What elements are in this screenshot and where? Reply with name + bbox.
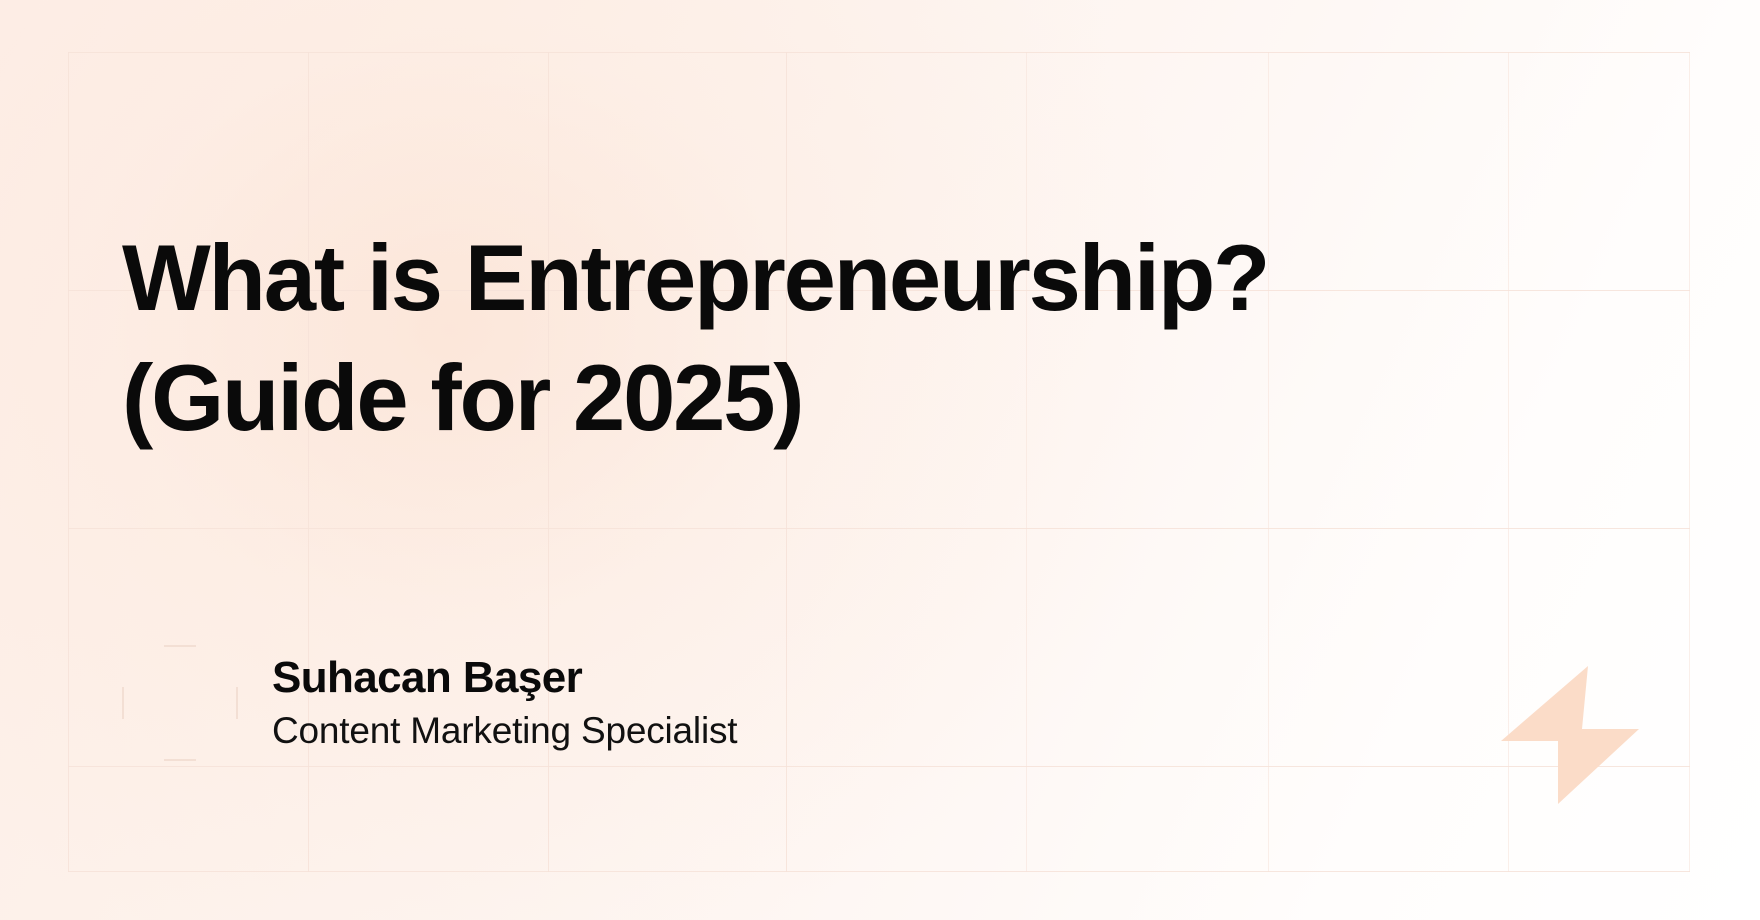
avatar (122, 645, 238, 761)
grid-vline-8 (1689, 52, 1690, 872)
grid-vline-4 (786, 52, 787, 872)
author-name: Suhacan Başer (272, 654, 737, 702)
avatar-tick-left (122, 687, 124, 719)
avatar-tick-right (236, 687, 238, 719)
grid-vline-5 (1026, 52, 1027, 872)
grid-hline-4 (68, 766, 1690, 767)
grid-hline-1 (68, 52, 1690, 53)
grid-hline-5 (68, 871, 1690, 872)
avatar-tick-top (164, 645, 196, 647)
background-glow (0, 0, 1200, 920)
page-title: What is Entrepreneurship? (Guide for 202… (122, 218, 1622, 459)
author-details: Suhacan Başer Content Marketing Speciali… (272, 654, 737, 753)
grid-hline-3 (68, 528, 1690, 529)
author-byline: Suhacan Başer Content Marketing Speciali… (122, 645, 737, 761)
grid-vline-1 (68, 52, 69, 872)
author-role: Content Marketing Specialist (272, 710, 737, 753)
article-cover-card: What is Entrepreneurship? (Guide for 202… (0, 0, 1760, 920)
avatar-tick-bottom (164, 759, 196, 761)
grid-vline-6 (1268, 52, 1269, 872)
lightning-bolt-icon (1495, 660, 1645, 810)
